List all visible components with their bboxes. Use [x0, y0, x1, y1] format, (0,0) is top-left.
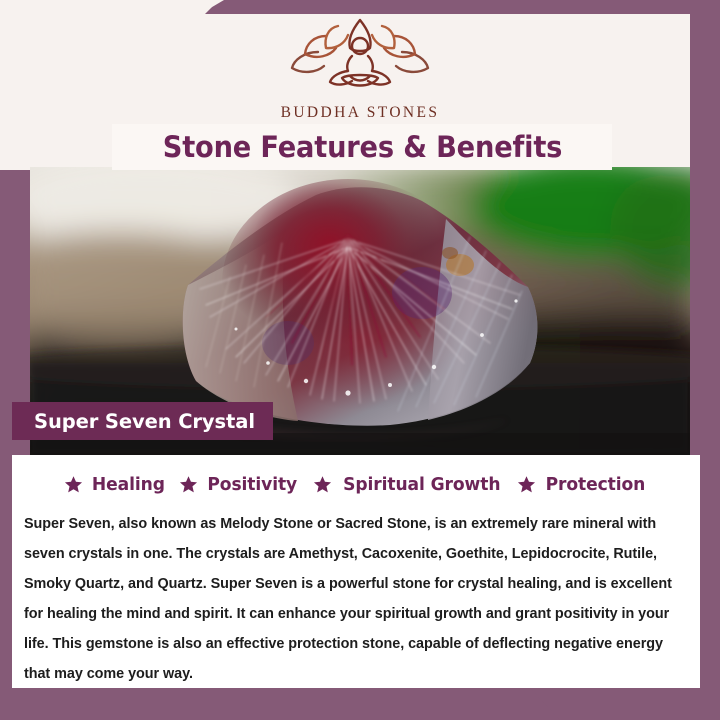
photo-caption-text: Super Seven Crystal — [34, 410, 255, 433]
star-icon — [179, 475, 198, 494]
benefit-item-spiritual-growth: Spiritual Growth — [313, 474, 505, 495]
benefit-label: Spiritual Growth — [343, 474, 500, 495]
benefit-label: Positivity — [208, 474, 298, 495]
content-panel: Healing Positivity Spiritual Growth — [12, 455, 700, 688]
benefit-label: Healing — [92, 474, 165, 495]
lotus-meditation-icon — [0, 16, 720, 102]
benefit-item-protection: Protection — [517, 474, 648, 495]
benefits-list: Healing Positivity Spiritual Growth — [12, 474, 700, 495]
benefit-item-positivity: Positivity — [179, 474, 299, 495]
star-icon — [313, 475, 332, 494]
star-icon — [64, 475, 83, 494]
page-title: Stone Features & Benefits — [162, 130, 561, 164]
title-banner: Stone Features & Benefits — [112, 124, 612, 170]
photo-caption-badge: Super Seven Crystal — [12, 402, 273, 440]
infographic-card: BUDDHA STONES Stone Features & Benefits — [0, 0, 720, 720]
brand-name: BUDDHA STONES — [0, 104, 720, 122]
benefit-item-healing: Healing — [64, 474, 167, 495]
description-paragraph: Super Seven, also known as Melody Stone … — [24, 509, 688, 689]
brand-logo: BUDDHA STONES — [0, 16, 720, 122]
star-icon — [517, 475, 536, 494]
benefit-label: Protection — [546, 474, 646, 495]
